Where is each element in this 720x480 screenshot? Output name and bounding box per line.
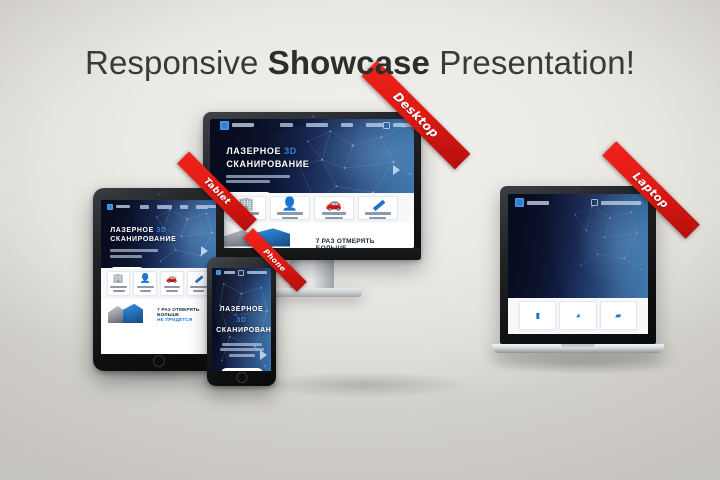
hero-subtext [216,343,267,357]
feature-card[interactable]: ▬ [358,196,398,221]
hero-heading: ЛАЗЕРНОЕ 3D СКАНИРОВАНИЕ [110,226,176,245]
hero-subtext [110,249,176,258]
feature-label [110,284,127,292]
phone-icon [591,199,598,206]
hero-heading: ЛАЗЕРНОЕ 3D СКАНИРОВАНИЕ [216,305,267,337]
laptop-hero [508,194,648,298]
logo-wordmark [224,271,235,274]
desktop-navbar[interactable] [210,119,414,131]
phone-hero: ЛАЗЕРНОЕ 3D СКАНИРОВАНИЕ [212,268,271,371]
navbar-links[interactable] [140,205,208,209]
tablet-hero: ЛАЗЕРНОЕ 3D СКАНИРОВАНИЕ [101,200,216,268]
tablet-hero-text: ЛАЗЕРНОЕ 3D СКАНИРОВАНИЕ [110,226,176,268]
website-phone: ЛАЗЕРНОЕ 3D СКАНИРОВАНИЕ [212,268,271,371]
feature-card[interactable]: 👤 [270,196,310,221]
tablet-features: 🏢 👤 🚗 ▬ [101,268,216,299]
hero-heading-accent: 3D [236,317,246,324]
laptop-camera-icon [577,189,579,191]
site-logo[interactable] [515,198,549,207]
nav-link-item[interactable] [280,123,293,127]
phone-icon [383,122,390,129]
hero-heading-line2: СКАНИРОВАНИЕ [226,159,309,169]
ruler-icon: ▬ [369,194,387,212]
device-tablet[interactable]: ЛАЗЕРНОЕ 3D СКАНИРОВАНИЕ 🏢 [93,188,224,371]
monitor-camera-icon [312,115,315,118]
hero-heading: ЛАЗЕРНОЕ 3D СКАНИРОВАНИЕ [226,145,309,169]
site-logo[interactable] [220,121,254,130]
feature-label [277,211,303,219]
hero-heading-line2: СКАНИРОВАНИЕ [110,236,176,243]
presentation-canvas: Responsive Showcase Presentation! [0,0,720,480]
feature-card[interactable]: 🚗 [314,196,354,221]
feature-card[interactable]: ◕ [559,301,596,330]
laptop-base-notch [561,344,595,347]
laptop-screen: ▮ ◕ ▰ [508,194,648,334]
navbar-phone[interactable] [208,205,216,208]
car-icon: 🚗 [166,274,177,283]
logo-mark-icon [515,198,524,207]
title-part-presentation: Presentation! [430,44,635,81]
laptop-navbar[interactable] [508,194,648,212]
laptop-lid: ▮ ◕ ▰ [500,186,656,344]
phone-number-text [247,271,267,274]
person-location-icon: 👤 [282,197,298,210]
nav-link-item[interactable] [140,205,149,209]
feature-card[interactable]: ▰ [600,301,637,330]
tablet-navbar[interactable] [101,200,216,214]
device-laptop[interactable]: ▮ ◕ ▰ Laptop [492,186,664,361]
monitor-bezel: ЛАЗЕРНОЕ 3D СКАНИРОВАНИЕ [203,112,421,260]
nav-link-item[interactable] [196,205,208,209]
title-part-showcase: Showcase [268,44,430,81]
phone-number-text [208,205,216,208]
logo-mark-icon [107,204,113,210]
hero-cta-button[interactable] [110,267,144,268]
phone-hero-text: ЛАЗЕРНОЕ 3D СКАНИРОВАНИЕ [216,305,267,371]
feature-label [137,284,154,292]
building-pointcloud-shape [123,304,143,323]
hero-heading-line1: ЛАЗЕРНОЕ [226,146,284,156]
tablet-promo: 7 РАЗ ОТМЕРЯТЬ БОЛЬШЕ НЕ ПРИДЁТСЯ [101,299,216,325]
building-icon: 🏢 [113,274,124,283]
tablet-home-button[interactable] [153,355,165,367]
promo-line-3: НЕ ПРИДЁТСЯ [157,317,209,322]
desktop-hero-text: ЛАЗЕРНОЕ 3D СКАНИРОВАНИЕ [226,145,309,192]
hero-heading-line1: ЛАЗЕРНОЕ [220,306,264,313]
nav-link-item[interactable] [306,123,328,127]
phone-icon [238,270,244,276]
website-desktop: ЛАЗЕРНОЕ 3D СКАНИРОВАНИЕ [210,119,414,248]
phone-screen: ЛАЗЕРНОЕ 3D СКАНИРОВАНИЕ [212,268,271,371]
site-logo[interactable] [216,270,235,275]
nav-link-item[interactable] [180,205,188,209]
phone-speaker-icon [235,262,249,264]
feature-card[interactable]: 🏢 [107,271,131,296]
hero-heading-line2: СКАНИРОВАНИЕ [216,327,271,334]
feature-card[interactable]: ▮ [519,301,556,330]
phone-home-button[interactable] [236,372,247,383]
hero-heading-line1: ЛАЗЕРНОЕ [110,227,156,234]
car-icon: 🚗 [326,197,342,210]
scan-building-photo [101,299,151,325]
device-smartphone[interactable]: ЛАЗЕРНОЕ 3D СКАНИРОВАНИЕ [207,257,276,386]
logo-wordmark [116,205,130,208]
hero-next-arrow-icon[interactable] [260,350,267,360]
desktop-screen: ЛАЗЕРНОЕ 3D СКАНИРОВАНИЕ [210,119,414,248]
feature-label [164,284,180,292]
title-part-responsive: Responsive [85,44,268,81]
hero-heading-accent: 3D [284,146,297,156]
feature-label [190,284,207,292]
feature-label [322,211,346,219]
nav-link-item[interactable] [341,123,353,127]
logo-mark-icon [216,270,221,275]
phone-body: ЛАЗЕРНОЕ 3D СКАНИРОВАНИЕ [207,257,276,386]
tablet-screen: ЛАЗЕРНОЕ 3D СКАНИРОВАНИЕ 🏢 [101,200,216,354]
promo-text: 7 РАЗ ОТМЕРЯТЬ БОЛЬШЕ НЕ ПРИДЁТСЯ [306,223,414,248]
navbar-phone[interactable] [238,270,267,276]
feature-card[interactable]: 👤 [133,271,157,296]
phone-navbar[interactable] [212,268,271,277]
hero-next-arrow-icon[interactable] [393,165,400,175]
monitor-stand-base [262,288,362,297]
hero-next-arrow-icon[interactable] [201,246,208,256]
website-laptop: ▮ ◕ ▰ [508,194,648,334]
site-logo[interactable] [107,204,130,210]
building-icon: ▮ [536,312,540,320]
tablet-camera-icon [157,193,160,196]
tablet-body: ЛАЗЕРНОЕ 3D СКАНИРОВАНИЕ 🏢 [93,188,224,371]
car-icon: ▰ [615,312,621,320]
page-title: Responsive Showcase Presentation! [0,44,720,82]
device-desktop-monitor[interactable]: ЛАЗЕРНОЕ 3D СКАНИРОВАНИЕ [203,112,421,260]
desktop-hero: ЛАЗЕРНОЕ 3D СКАНИРОВАНИЕ [210,119,414,193]
desktop-shadow [258,372,468,398]
logo-wordmark [232,123,254,127]
person-location-icon: 👤 [140,274,151,283]
phone-number-text [601,201,641,205]
nav-link-item[interactable] [157,205,172,209]
logo-mark-icon [220,121,229,130]
navbar-phone[interactable] [591,199,641,206]
nav-link-item[interactable] [366,123,383,127]
hero-cta-button[interactable] [221,368,263,371]
hero-heading-accent: 3D [156,227,166,234]
promo-line-1: 7 РАЗ ОТМЕРЯТЬ [316,238,402,245]
website-tablet: ЛАЗЕРНОЕ 3D СКАНИРОВАНИЕ 🏢 [101,200,216,354]
laptop-features: ▮ ◕ ▰ [508,298,648,334]
navbar-links[interactable] [280,123,383,127]
feature-card[interactable]: 🚗 [160,271,184,296]
person-location-icon: ◕ [576,312,581,320]
hero-subtext [226,175,309,184]
logo-wordmark [527,201,549,205]
